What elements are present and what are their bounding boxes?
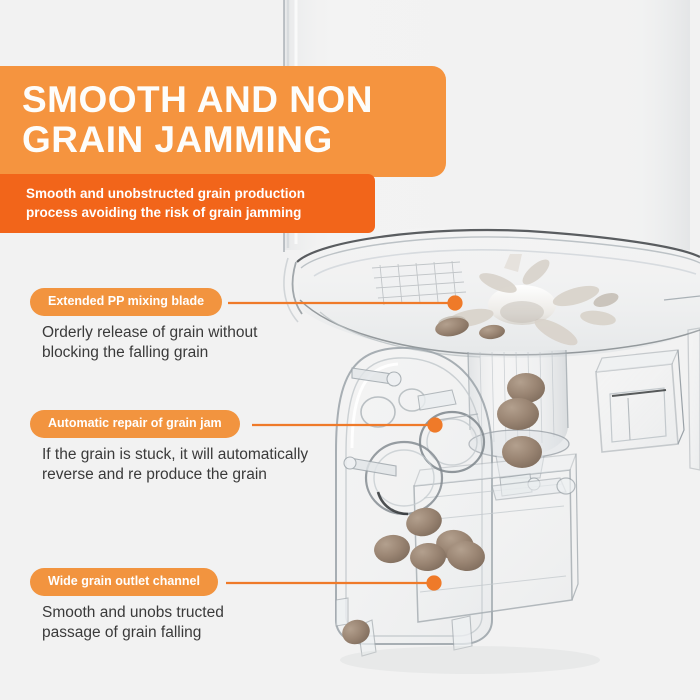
- callout-description-3: Smooth and unobs tructed passage of grai…: [30, 603, 224, 644]
- bowl-inlet-grid: [372, 261, 466, 306]
- title-line-2: GRAIN JAMMING: [22, 120, 426, 160]
- callout-label-3: Wide grain outlet channel: [30, 568, 218, 596]
- infographic-canvas: SMOOTH AND NON GRAIN JAMMING Smooth and …: [0, 0, 700, 700]
- title-line-1: SMOOTH AND NON: [22, 80, 426, 120]
- callout-wide-grain-outlet-channel: Wide grain outlet channel Smooth and uno…: [30, 568, 224, 644]
- callout-description-1: Orderly release of grain without blockin…: [30, 323, 257, 364]
- callout-description-2: If the grain is stuck, it will automatic…: [30, 445, 308, 486]
- callout-label-2: Automatic repair of grain jam: [30, 410, 240, 438]
- subtitle-line-2: process avoiding the risk of grain jammi…: [26, 203, 359, 222]
- callout-extended-pp-mixing-blade: Extended PP mixing blade Orderly release…: [30, 288, 257, 364]
- title-banner: SMOOTH AND NON GRAIN JAMMING: [0, 66, 446, 177]
- subtitle-line-1: Smooth and unobstructed grain production: [26, 184, 359, 203]
- callout-label-1: Extended PP mixing blade: [30, 288, 222, 316]
- callout-automatic-repair-of-grain-jam: Automatic repair of grain jam If the gra…: [30, 410, 308, 486]
- subtitle-banner: Smooth and unobstructed grain production…: [0, 174, 375, 233]
